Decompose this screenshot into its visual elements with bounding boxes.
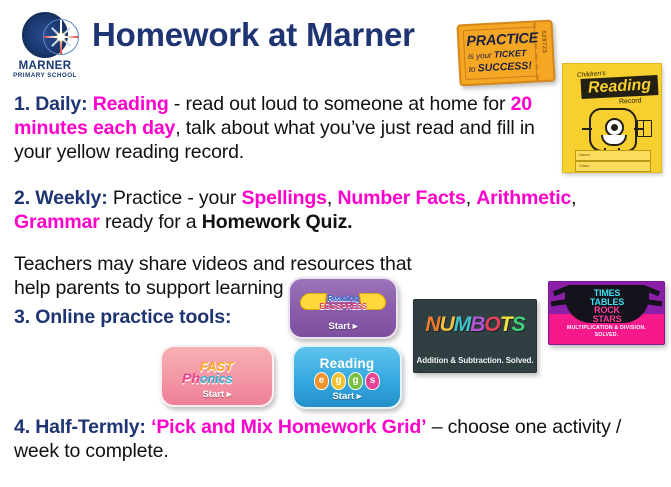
item-2-highlight-arithmetic: Arithmetic	[476, 187, 571, 209]
item-4-number: 4.	[14, 416, 30, 438]
numbots-letter: B	[470, 313, 484, 337]
numbots-letter: T	[500, 313, 512, 337]
homework-slide: MARNER PRIMARY SCHOOL Homework at Marner…	[0, 0, 671, 487]
numbots-logo-text: NUMBOTS	[414, 313, 536, 337]
tool-reading-eggs[interactable]: Reading eggs Start ▸	[292, 345, 402, 409]
record-record-label: Record	[619, 97, 642, 105]
ttrs-line-3-4: ROCKSTARS	[565, 306, 649, 324]
ticket-stub-number: 528725	[540, 26, 548, 58]
start-label[interactable]: Start ▸	[162, 389, 272, 400]
logo-school-name: MARNER	[8, 60, 82, 72]
numbots-tagline: Addition & Subtraction. Solved.	[414, 356, 536, 365]
item-1-text-1: - read out loud to someone at home for	[169, 93, 511, 115]
item-2-highlight-spellings: Spellings	[242, 187, 327, 209]
homework-item-4: 4. Half-Termly: ‘Pick and Mix Homework G…	[14, 415, 654, 463]
item-3-number: 3.	[14, 306, 30, 328]
tool-numbots[interactable]: NUMBOTS Addition & Subtraction. Solved.	[413, 299, 537, 373]
item-1-label: Daily:	[35, 93, 87, 115]
item-2-number: 2.	[14, 187, 30, 209]
tool-times-tables-rock-stars[interactable]: TIMESTABLES ROCKSTARS MULTIPLICATION & D…	[548, 281, 665, 345]
egg-letter: g	[348, 372, 363, 390]
item-3-label: Online practice tools:	[35, 306, 231, 328]
item-4-highlight-grid: ‘Pick and Mix Homework Grid’	[151, 416, 426, 438]
item-2-sep-1: ,	[327, 187, 338, 209]
fast-phonics-word-onics: onics	[200, 372, 233, 386]
reading-eggs-word: Reading	[294, 356, 400, 371]
numbots-letter: N	[425, 313, 439, 337]
book-icon	[637, 120, 652, 137]
item-2-highlight-grammar: Grammar	[14, 211, 100, 233]
item-2-highlight-number-facts: Number Facts	[337, 187, 465, 209]
ttrs-badge-shape: TIMESTABLES ROCKSTARS	[565, 285, 649, 323]
egg-letter: g	[331, 372, 346, 390]
homework-item-3: 3. Online practice tools:	[14, 305, 314, 329]
tool-fast-phonics[interactable]: FAST Ph onics Start ▸	[160, 345, 274, 407]
slide-header: MARNER PRIMARY SCHOOL Homework at Marner…	[0, 0, 671, 86]
fast-phonics-word-ph: Ph	[182, 370, 200, 386]
item-2-sep-2: ,	[466, 187, 477, 209]
item-2-label: Weekly:	[35, 187, 107, 209]
compass-star-icon	[22, 12, 68, 58]
practice-ticket-image: 528725 PRACTICE is your TICKET to SUCCES…	[456, 20, 555, 87]
homework-item-2: 2. Weekly: Practice - your Spellings, Nu…	[14, 186, 659, 234]
homework-item-1: 1. Daily: Reading - read out loud to som…	[14, 92, 574, 164]
marner-school-logo: MARNER PRIMARY SCHOOL	[8, 12, 82, 84]
egg-letter: s	[365, 372, 380, 390]
numbots-letter: O	[484, 313, 499, 337]
item-2-text-2: ready for a	[100, 211, 202, 233]
tool-reading-eggspress[interactable]: ReadingEGGSPRESS Start ▸	[288, 277, 398, 339]
egg-letter: e	[314, 372, 329, 390]
ttrs-tagline: MULTIPLICATION & DIVISION.SOLVED.	[549, 325, 664, 339]
reading-record-image: Children's Reading Record Name: Class:	[562, 63, 662, 173]
item-2-text-1: Practice - your	[108, 187, 242, 209]
item-1-highlight-reading: Reading	[93, 93, 169, 115]
logo-school-subtitle: PRIMARY SCHOOL	[8, 72, 82, 79]
numbots-letter: S	[512, 313, 525, 337]
monster-character-icon	[589, 108, 637, 152]
start-label[interactable]: Start ▸	[294, 391, 400, 402]
record-field-class: Class:	[575, 161, 651, 172]
numbots-letter: U	[440, 313, 454, 337]
numbots-letter: M	[454, 313, 471, 337]
item-2-bold-quiz: Homework Quiz.	[202, 211, 353, 233]
record-reading-label: Reading	[581, 75, 659, 99]
reading-eggs-egg-letters: eggs	[294, 372, 400, 390]
item-4-label: Half-Termly:	[35, 416, 146, 438]
start-label[interactable]: Start ▸	[290, 321, 396, 332]
reading-eggspress-logo-text: ReadingEGGSPRESS	[318, 294, 368, 311]
page-title: Homework at Marner	[92, 16, 415, 54]
record-field-name: Name:	[575, 150, 651, 161]
item-1-number: 1.	[14, 93, 30, 115]
item-2-sep-3: ,	[571, 187, 576, 209]
